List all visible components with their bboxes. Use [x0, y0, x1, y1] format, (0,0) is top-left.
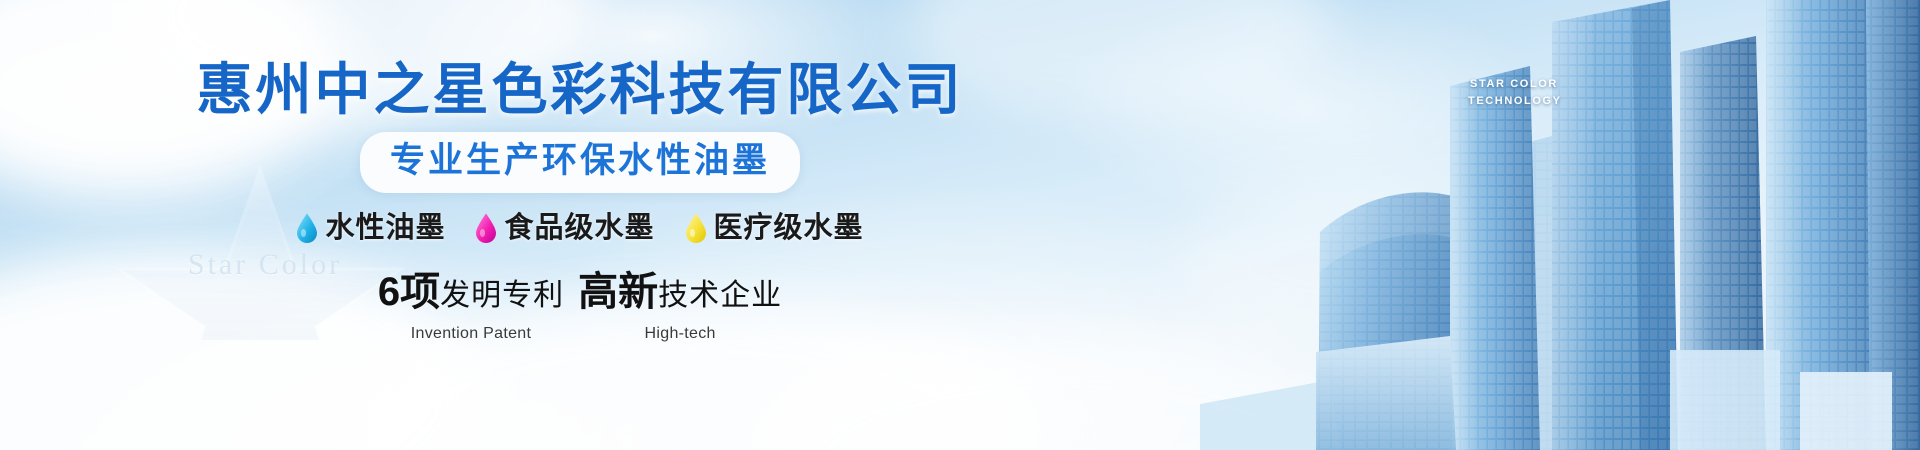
badge-main-text: 高新技术企业 — [578, 271, 782, 322]
badge-high-tech: 高新技术企业 High-tech — [578, 271, 782, 344]
banner-content: 惠州中之星色彩科技有限公司 专业生产环保水性油墨 水性油墨 — [0, 0, 1160, 450]
badge-highlight: 高新 — [578, 270, 658, 314]
feature-item: 食品级水墨 — [475, 211, 654, 245]
city-label: STAR COLOR TECHNOLOGY — [1468, 76, 1560, 110]
badge-caption: High-tech — [645, 324, 716, 344]
badge-list: 6项发明专利 Invention Patent 高新技术企业 High-tech — [378, 271, 782, 344]
badge-invention-patent: 6项发明专利 Invention Patent — [378, 271, 564, 344]
water-drop-icon — [296, 213, 318, 243]
feature-item: 水性油墨 — [296, 211, 445, 245]
feature-label: 医疗级水墨 — [714, 211, 864, 245]
badge-highlight: 6项 — [378, 270, 440, 314]
badge-main-text: 6项发明专利 — [378, 271, 564, 322]
badge-rest: 技术企业 — [658, 279, 782, 312]
feature-label: 食品级水墨 — [504, 211, 654, 245]
company-title: 惠州中之星色彩科技有限公司 — [197, 58, 964, 122]
promo-banner: Star Color — [0, 0, 1920, 450]
water-drop-icon — [685, 213, 707, 243]
subtitle-pill: 专业生产环保水性油墨 — [360, 132, 800, 193]
badge-caption: Invention Patent — [411, 324, 531, 344]
feature-item: 医疗级水墨 — [685, 211, 864, 245]
subtitle-text: 专业生产环保水性油墨 — [390, 139, 770, 183]
badge-rest: 发明专利 — [440, 279, 564, 312]
water-drop-icon — [475, 213, 497, 243]
feature-label: 水性油墨 — [325, 211, 445, 245]
feature-list: 水性油墨 食品级水墨 — [296, 211, 863, 245]
city-skyline-image — [1200, 0, 1920, 450]
